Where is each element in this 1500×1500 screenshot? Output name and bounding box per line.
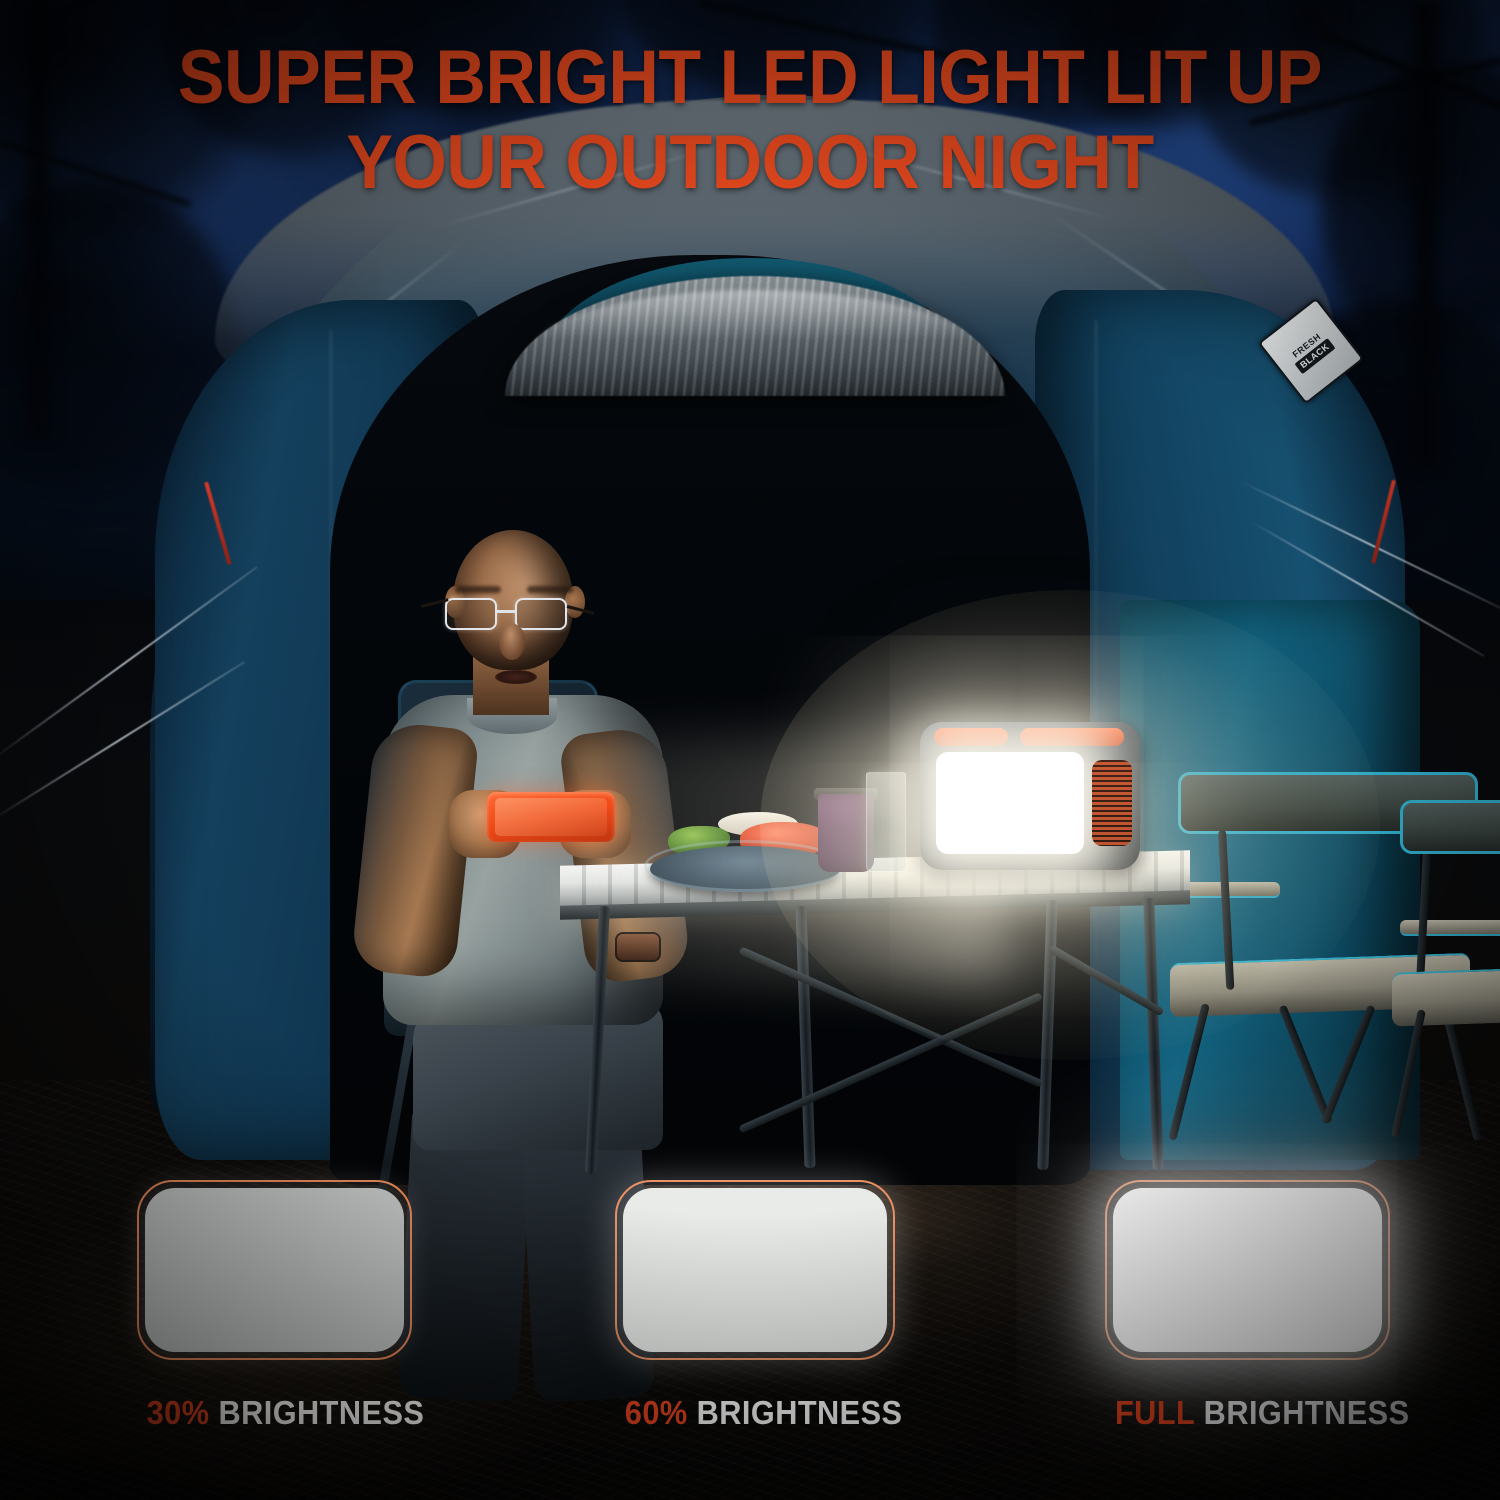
glasses-temple xyxy=(567,605,595,615)
brightness-fill-full xyxy=(1113,1188,1382,1352)
promo-image: FRESH BLACK xyxy=(0,0,1500,1500)
chair-back-pad xyxy=(1400,800,1500,854)
brightness-word-60: BRIGHTNESS xyxy=(688,1394,903,1431)
brightness-percent-30: 30% xyxy=(147,1394,210,1431)
person-mouth xyxy=(495,670,537,684)
brightness-level-30: 30% BRIGHTNESS xyxy=(137,1180,412,1432)
lantern-top-accent-left xyxy=(934,728,1008,746)
brightness-swatch-full xyxy=(1105,1180,1390,1360)
phone-screen xyxy=(495,798,607,836)
brightness-swatch-60 xyxy=(615,1180,895,1360)
brightness-fill-30 xyxy=(145,1188,404,1352)
chair-leg xyxy=(1321,1005,1376,1125)
brightness-swatch-30 xyxy=(137,1180,412,1360)
brightness-comparison: 30% BRIGHTNESS 60% BRIGHTNESS FULL BRIGH… xyxy=(0,1180,1500,1440)
lantern-speaker-grille xyxy=(1092,760,1132,846)
person-brow xyxy=(455,586,501,593)
person-brow xyxy=(527,586,573,593)
brightness-level-60: 60% BRIGHTNESS xyxy=(615,1180,895,1432)
brightness-label-30: 30% BRIGHTNESS xyxy=(147,1394,403,1432)
tent-pole xyxy=(1095,320,1097,1100)
wristwatch xyxy=(615,932,661,962)
brightness-word-full: BRIGHTNESS xyxy=(1195,1394,1410,1431)
smartphone xyxy=(487,792,615,842)
glasses-bridge xyxy=(497,610,515,613)
chair-seat-pad xyxy=(1392,967,1500,1026)
brightness-label-full: FULL BRIGHTNESS xyxy=(1115,1394,1380,1432)
glasses-lens xyxy=(515,598,567,630)
glasses-lens xyxy=(445,598,497,630)
chair-right-second xyxy=(1400,800,1500,1140)
lantern-led-panel xyxy=(936,752,1084,854)
brightness-label-60: 60% BRIGHTNESS xyxy=(625,1394,885,1432)
brightness-percent-60: 60% xyxy=(625,1394,688,1431)
lantern-top-accent-right xyxy=(1020,728,1124,746)
led-lantern xyxy=(920,722,1140,870)
brightness-word-30: BRIGHTNESS xyxy=(209,1394,424,1431)
brightness-fill-60 xyxy=(623,1188,887,1352)
drinking-glass xyxy=(866,772,906,872)
brightness-level-full: FULL BRIGHTNESS xyxy=(1105,1180,1390,1432)
chair-leg xyxy=(1278,1005,1333,1125)
brightness-percent-full: FULL xyxy=(1115,1394,1195,1431)
person-nose xyxy=(499,624,525,660)
plate-rim xyxy=(644,840,846,892)
